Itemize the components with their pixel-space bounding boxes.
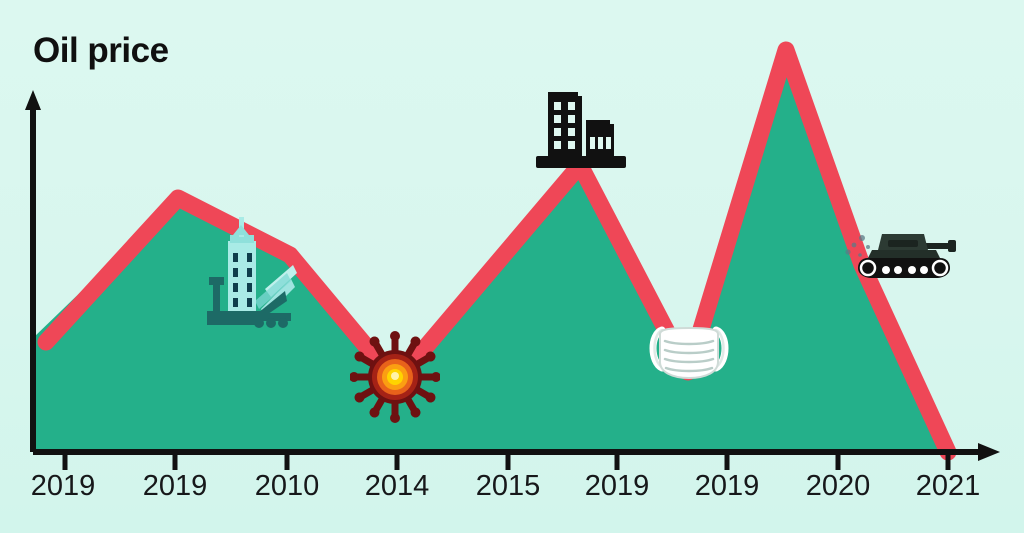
x-axis-arrow bbox=[978, 443, 1000, 461]
x-tick-label-2: 2019 bbox=[143, 470, 208, 503]
x-tick-label-7: 2019 bbox=[695, 470, 760, 503]
page-title: Oil price bbox=[33, 33, 169, 68]
chart-canvas: Oil price 2019 2019 2010 2014 2015 2019 … bbox=[0, 0, 1024, 533]
x-tick-label-6: 2019 bbox=[585, 470, 650, 503]
oil-price-area-chart bbox=[0, 0, 1024, 533]
x-tick-label-3: 2010 bbox=[255, 470, 320, 503]
x-tick-label-8: 2020 bbox=[806, 470, 871, 503]
y-axis-arrow bbox=[25, 90, 41, 110]
x-tick-label-9: 2021 bbox=[916, 470, 981, 503]
x-tick-label-1: 2019 bbox=[31, 470, 96, 503]
x-tick-label-5: 2015 bbox=[476, 470, 541, 503]
x-tick-label-4: 2014 bbox=[365, 470, 430, 503]
